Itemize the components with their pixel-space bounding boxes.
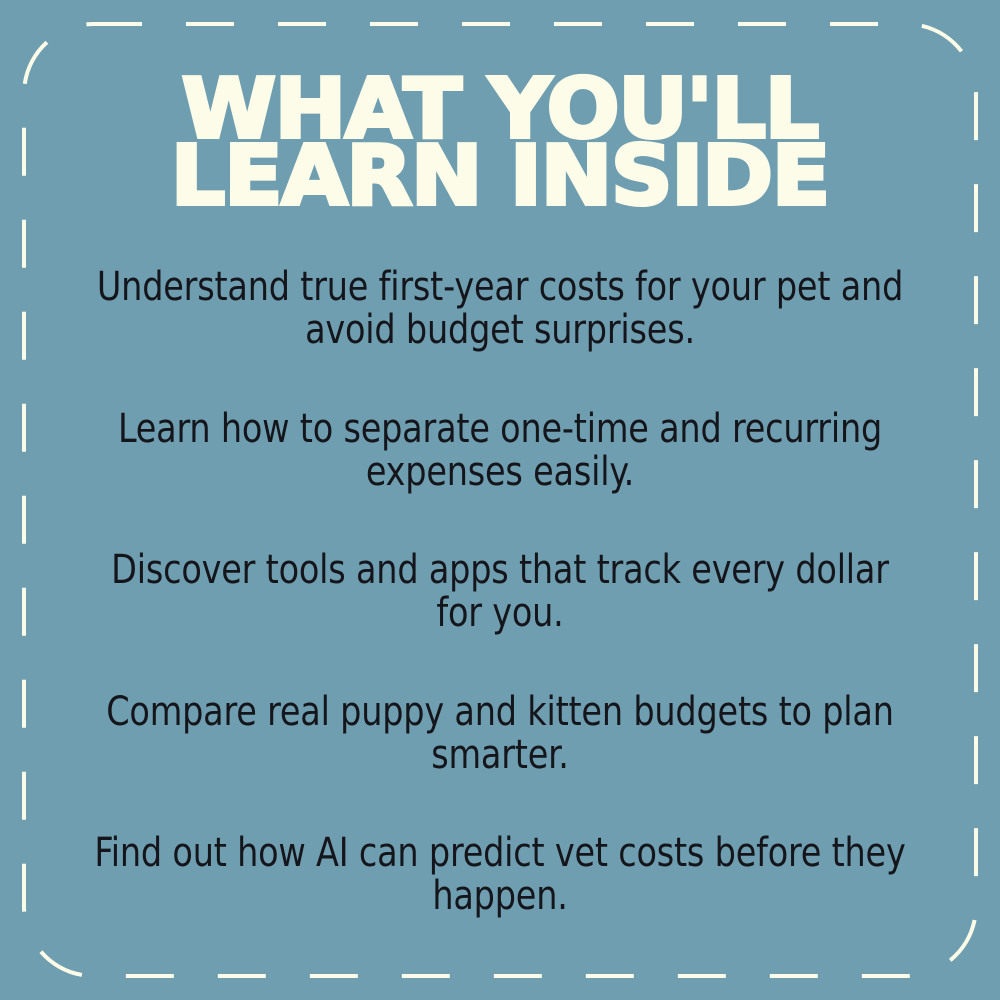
page-title: WHAT YOU'LL LEARN INSIDE [32, 0, 968, 210]
list-item: Understand true first-year costs for you… [83, 266, 916, 352]
page-title-line-2: LEARN INSIDE [32, 143, 968, 210]
poster-canvas: WHAT YOU'LL LEARN INSIDE Understand true… [0, 0, 1000, 1000]
list-item: Learn how to separate one-time and recur… [83, 408, 916, 494]
poster-content: WHAT YOU'LL LEARN INSIDE Understand true… [50, 0, 950, 1000]
list-item: Discover tools and apps that track every… [83, 549, 916, 635]
list-item: Find out how AI can predict vet costs be… [83, 832, 916, 918]
list-item: Compare real puppy and kitten budgets to… [83, 691, 916, 777]
learning-points-list: Understand true first-year costs for you… [50, 210, 950, 1000]
